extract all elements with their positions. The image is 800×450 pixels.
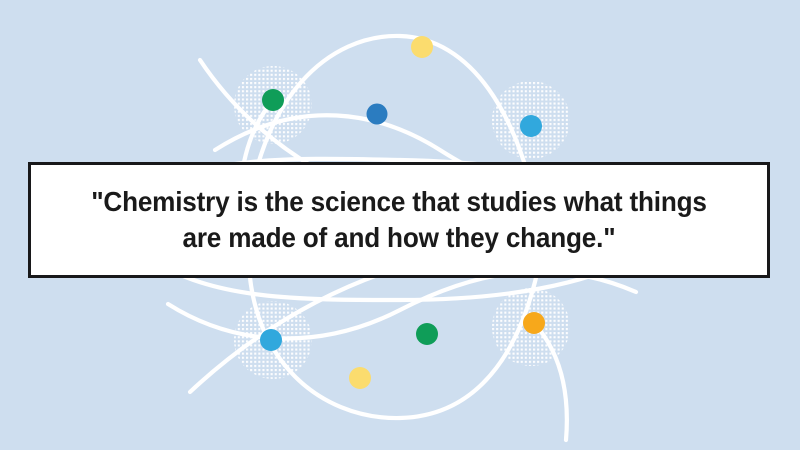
quote-card: "Chemistry is the science that studies w… (28, 162, 770, 278)
node-cyan-top-right (520, 115, 542, 137)
node-green-bottom (416, 323, 438, 345)
node-green-top-left (262, 89, 284, 111)
quote-text: "Chemistry is the science that studies w… (82, 184, 717, 256)
node-yellow-top (411, 36, 433, 58)
slide-canvas: "Chemistry is the science that studies w… (0, 0, 800, 450)
node-cyan-bottom-left (260, 329, 282, 351)
node-blue-top-center (367, 104, 388, 125)
node-yellow-bottom (349, 367, 371, 389)
node-orange-bottom-right (523, 312, 545, 334)
